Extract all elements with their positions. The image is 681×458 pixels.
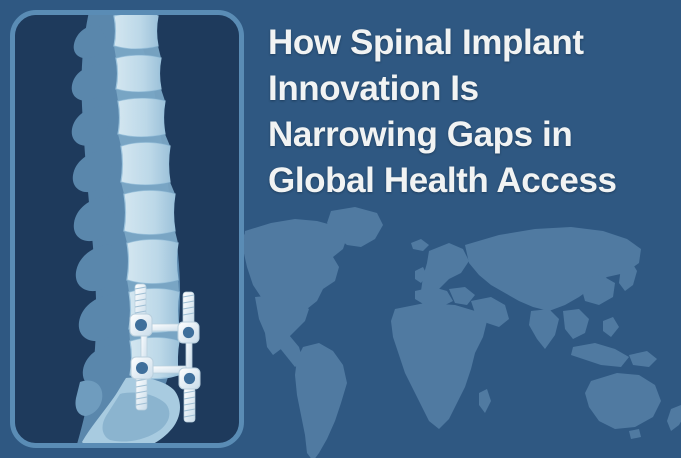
map-region-japan [619, 261, 637, 291]
spine-illustration-panel [10, 10, 244, 448]
title-line-1: How Spinal Implant [268, 20, 668, 66]
map-region-usa [255, 295, 309, 355]
map-region-indonesia [571, 343, 629, 367]
screw-hub [184, 373, 195, 384]
vertebra-body [114, 13, 158, 49]
map-region-new-zealand [667, 405, 681, 431]
screw-hub [136, 362, 148, 374]
screw-thread-shaft [136, 376, 147, 410]
map-region-south-america [295, 343, 347, 458]
map-region-mexico [273, 331, 303, 367]
vertebra-body [127, 239, 178, 284]
map-region-uk [415, 267, 427, 283]
map-region-greenland [327, 207, 383, 247]
map-region-madagascar [479, 389, 491, 413]
map-region-central-america [297, 363, 313, 381]
map-region-middle-east [471, 297, 509, 327]
page-title: How Spinal Implant Innovation Is Narrowi… [268, 20, 668, 204]
map-region-mediterranean [449, 287, 475, 305]
lumbar-spine-graphic [10, 10, 244, 448]
map-region-india [529, 309, 559, 349]
map-region-southeast-asia [563, 309, 589, 339]
map-region-europe [421, 243, 469, 295]
map-region-east-asia [579, 275, 615, 305]
map-region-new-guinea [629, 351, 657, 367]
vertebra-body [118, 98, 165, 137]
map-region-iberia [415, 287, 453, 307]
title-line-3: Narrowing Gaps in [268, 112, 668, 158]
map-region-alaska [243, 229, 265, 249]
screw-thread-shaft [184, 388, 195, 422]
map-region-philippines [603, 317, 619, 337]
screw-hub [183, 327, 194, 338]
screw-hub [135, 319, 147, 331]
vertebra-body [124, 190, 175, 235]
vertebra-body [121, 142, 170, 185]
map-region-australia [585, 373, 661, 429]
vertebra-body [116, 55, 161, 92]
world-map-watermark [243, 205, 681, 458]
screw-thread-shaft [183, 292, 194, 324]
title-line-4: Global Health Access [268, 158, 668, 204]
map-region-iceland [411, 239, 429, 251]
map-region-north-america [243, 219, 347, 333]
title-line-2: Innovation Is [268, 66, 668, 112]
map-region-africa [391, 303, 487, 429]
map-region-asia [465, 227, 641, 311]
poster-canvas: How Spinal Implant Innovation Is Narrowi… [0, 0, 681, 458]
map-region-tasmania [629, 429, 641, 439]
